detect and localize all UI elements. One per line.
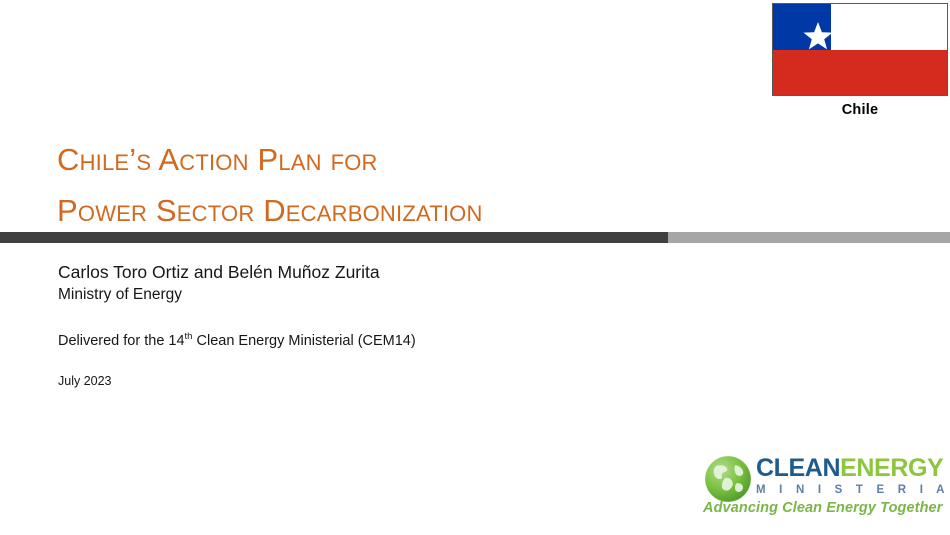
chile-flag-icon <box>772 3 948 96</box>
author-affiliation: Ministry of Energy <box>58 284 698 306</box>
cem-tagline: Advancing Clean Energy Together <box>703 500 942 516</box>
country-flag-block: Chile <box>772 3 948 118</box>
globe-icon <box>702 453 754 505</box>
flag-caption: Chile <box>772 102 948 118</box>
divider-dark-segment <box>0 232 668 243</box>
divider-light-segment <box>668 232 950 243</box>
event-prefix: Delivered for the 14 <box>58 333 185 349</box>
event-name: Clean Energy Ministerial (CEM14) <box>192 333 415 349</box>
title-line-1: Chile’s Action Plan for <box>57 134 757 185</box>
cem-wordmark: CLEANENERGY M I N I S T E R I A L <box>756 455 942 498</box>
cem-word-ministerial: M I N I S T E R I A L <box>756 482 942 498</box>
title-line-2: Power Sector Decarbonization <box>57 185 757 236</box>
cem-name-line: CLEANENERGY <box>756 455 942 482</box>
subtitle-block: Carlos Toro Ortiz and Belén Muñoz Zurita… <box>58 261 698 390</box>
presentation-date: July 2023 <box>58 372 698 390</box>
cem-word-energy: ENERGY <box>840 454 943 482</box>
event-line: Delivered for the 14th Clean Energy Mini… <box>58 331 698 351</box>
flag-red-band <box>773 50 947 96</box>
title-slide: Chile Chile’s Action Plan for Power Sect… <box>0 0 950 535</box>
cem-word-clean: CLEAN <box>756 454 840 482</box>
divider <box>0 232 950 243</box>
page-title: Chile’s Action Plan for Power Sector Dec… <box>57 134 757 236</box>
author-names: Carlos Toro Ortiz and Belén Muñoz Zurita <box>58 261 698 284</box>
cem-logo: CLEANENERGY M I N I S T E R I A L Advanc… <box>698 450 942 530</box>
